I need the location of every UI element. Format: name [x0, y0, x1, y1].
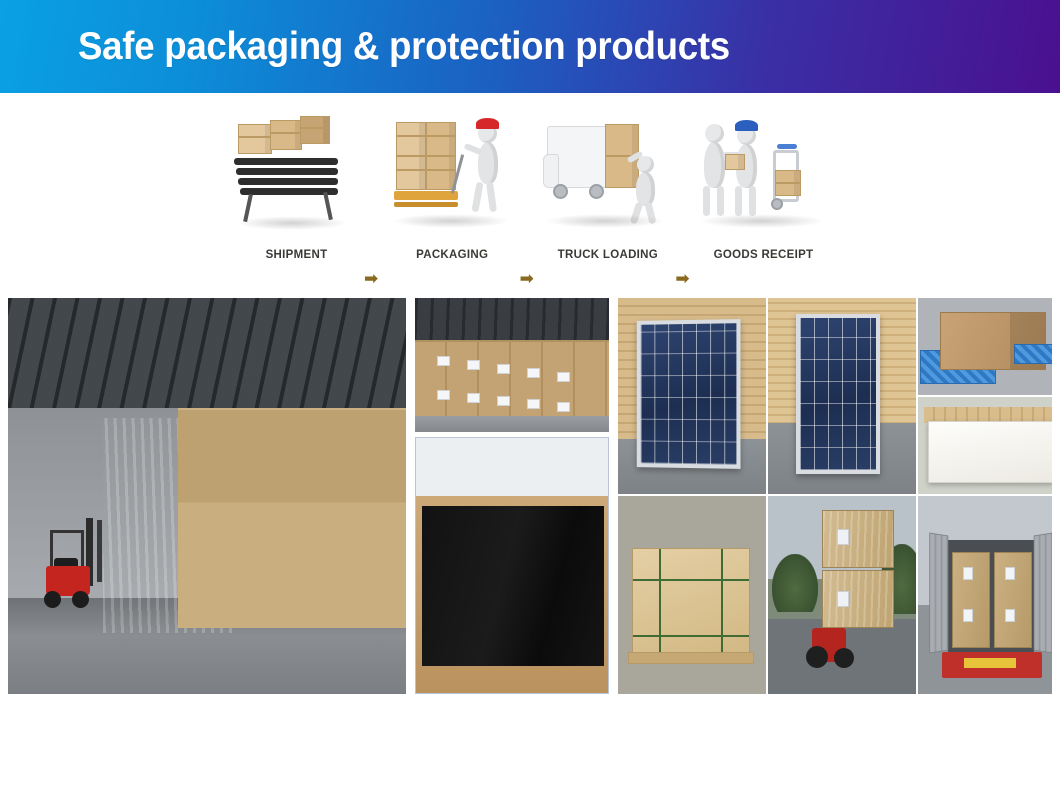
- process-step-goods-receipt: GOODS RECEIPT: [697, 110, 830, 261]
- collage-cell-right-stack: [918, 298, 1052, 494]
- photo-black-solar-panels-packed: [415, 437, 609, 694]
- gallery-column-middle: [415, 298, 609, 694]
- process-step-label: TRUCK LOADING: [558, 249, 658, 261]
- slide-footer-blank: [0, 694, 1060, 785]
- photo-wooden-export-crate: [618, 496, 766, 694]
- process-arrow-1: ➡: [363, 136, 386, 261]
- photo-blue-solar-panel-front: [618, 298, 766, 494]
- photo-loaded-container-truck: [918, 496, 1052, 694]
- photo-warehouse-crate-storage: [8, 298, 406, 694]
- gallery-column-left: [8, 298, 406, 694]
- photo-forklift-carrying-pallets: [768, 496, 916, 694]
- process-step-label: GOODS RECEIPT: [714, 249, 814, 261]
- process-step-packaging: PACKAGING: [386, 110, 519, 261]
- truck-loading-icon: [541, 110, 674, 235]
- arrow-right-icon: ➡: [675, 270, 689, 287]
- forklift-graphic: [40, 518, 110, 608]
- photo-cartons-on-pallets: [415, 298, 609, 432]
- gallery-column-right: [618, 298, 1052, 694]
- slide-page: Safe packaging & protection products: [0, 0, 1060, 785]
- process-arrow-3: ➡: [674, 136, 697, 261]
- photo-blue-solar-panel-side: [768, 298, 916, 494]
- header-banner: Safe packaging & protection products: [0, 0, 1060, 93]
- photo-gallery: [8, 298, 1052, 694]
- photo-white-backsheet-panel: [918, 397, 1052, 494]
- process-arrow-2: ➡: [519, 136, 542, 261]
- goods-receipt-icon: [697, 110, 830, 235]
- process-step-truck-loading: TRUCK LOADING: [541, 110, 674, 261]
- collage-row-top: [618, 298, 1052, 494]
- pallet-jack-worker-icon: [386, 110, 519, 235]
- arrow-right-icon: ➡: [520, 270, 534, 287]
- page-title: Safe packaging & protection products: [78, 25, 730, 69]
- arrow-right-icon: ➡: [364, 270, 378, 287]
- process-step-shipment: SHIPMENT: [230, 110, 363, 261]
- process-infographic: SHIPMENT ➡: [0, 110, 1060, 290]
- process-step-label: SHIPMENT: [266, 249, 328, 261]
- process-step-label: PACKAGING: [416, 249, 488, 261]
- conveyor-rollers-icon: [230, 110, 363, 235]
- photo-carton-box-on-blue-pallet: [918, 298, 1052, 395]
- collage-row-bottom: [618, 496, 1052, 694]
